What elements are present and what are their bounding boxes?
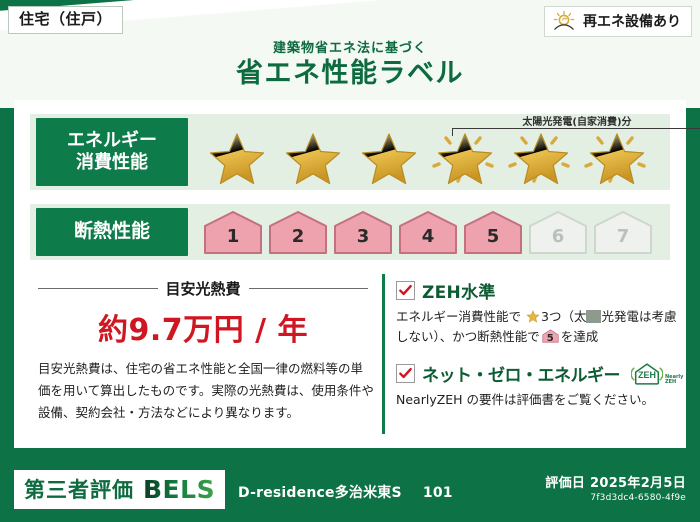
- insulation-level-number: 1: [202, 226, 264, 247]
- utility-cost-caption-text: 目安光熱費: [166, 278, 241, 299]
- star-icon: [580, 126, 654, 186]
- star-icon: [504, 126, 578, 186]
- star-icon: [352, 126, 426, 186]
- evaluation-info: 評価日 2025年2月5日 7f3d3dc4-6580-4f9e: [545, 472, 686, 503]
- utility-cost-block: 目安光熱費 約9.7万円 / 年: [38, 278, 368, 349]
- insulation-level-icon: 5: [542, 329, 559, 343]
- energy-performance-row: エネルギー 消費性能 太陽光発電(自家消費)分: [30, 114, 670, 190]
- panel-divider: [382, 274, 385, 434]
- energy-label-line1: エネルギー: [67, 130, 157, 153]
- building-type-tag: 住宅（住戸）: [8, 6, 123, 34]
- insulation-level-scale: 1234567: [202, 210, 654, 254]
- utility-cost-caption: 目安光熱費: [38, 278, 368, 299]
- renewable-energy-label: 再エネ設備あり: [583, 11, 681, 31]
- insulation-performance-row: 断熱性能 1234567: [30, 204, 670, 260]
- utility-cost-description: 目安光熱費は、住宅の省エネ性能と全国一律の燃料等の単価を用いて算出したものです。…: [38, 358, 374, 424]
- insulation-level-4: 4: [397, 210, 459, 254]
- svg-text:ZEH: ZEH: [638, 370, 656, 380]
- sun-icon: [551, 10, 577, 32]
- zeh-standard-title: ZEH水準: [422, 278, 496, 303]
- net-zero-energy-checkbox[interactable]: [396, 364, 415, 383]
- insulation-level-number: 7: [592, 226, 654, 247]
- utility-cost-amount: 約9.7万円 / 年: [38, 305, 368, 349]
- insulation-performance-label-box: 断熱性能: [36, 208, 188, 256]
- zeh-desc-part2: 3つ（太: [541, 309, 586, 324]
- insulation-level-6: 6: [527, 210, 589, 254]
- energy-performance-label-box: エネルギー 消費性能: [36, 118, 188, 186]
- net-zero-energy-title: ネット・ゼロ・エネルギー: [422, 361, 620, 386]
- star-icon: [200, 126, 274, 186]
- energy-performance-label: 住宅（住戸） 再エネ設備あり 建築物省エネ法に基づく 省エネ性能ラベル: [0, 0, 700, 522]
- insulation-level-number: 4: [397, 226, 459, 247]
- label-footer: 第三者評価 BELS D-residence多治米東S 101 評価日 2025…: [0, 462, 700, 522]
- zeh-desc-part1: エネルギー消費性能で: [396, 309, 521, 324]
- zeh-standard-block: ZEH水準 エネルギー消費性能で 3つ（太光発電は考慮しない）、かつ断熱性能で …: [396, 278, 686, 347]
- headline-title: 省エネ性能ラベル: [0, 60, 700, 87]
- insulation-level-number: 5: [462, 226, 524, 247]
- insulation-level-7: 7: [592, 210, 654, 254]
- insulation-label-text: 断熱性能: [74, 220, 150, 244]
- check-icon: [398, 366, 413, 381]
- insulation-level-number: 2: [267, 226, 329, 247]
- star-icon: [428, 126, 502, 186]
- insulation-levels-area: 1234567: [188, 204, 670, 260]
- insulation-level-3: 3: [332, 210, 394, 254]
- property-name: D-residence多治米東S: [238, 485, 402, 501]
- label-body-card: エネルギー 消費性能 太陽光発電(自家消費)分 断熱性能 1234567: [14, 100, 686, 448]
- headline-subtitle: 建築物省エネ法に基づく: [0, 42, 700, 55]
- zeh-logo: ZEH NearlyZEH: [631, 362, 683, 385]
- zeh-standard-description: エネルギー消費性能で 3つ（太光発電は考慮しない）、かつ断熱性能で 5 を達成: [396, 307, 686, 347]
- zeh-standard-checkbox[interactable]: [396, 281, 415, 300]
- insulation-level-number: 3: [332, 226, 394, 247]
- energy-label-line2: 消費性能: [76, 152, 148, 175]
- zeh-standard-header: ZEH水準: [396, 278, 686, 303]
- star-icon: [526, 309, 540, 322]
- energy-star-rating: [200, 126, 654, 186]
- insulation-level-value: 5: [542, 331, 559, 347]
- zeh-house-icon: ZEH: [631, 362, 663, 385]
- net-zero-energy-header: ネット・ゼロ・エネルギー ZEH NearlyZEH: [396, 361, 686, 386]
- net-zero-energy-description: NearlyZEH の要件は評価書をご覧ください。: [396, 390, 686, 410]
- zeh-desc-part4: を達成: [561, 329, 599, 344]
- net-zero-energy-block: ネット・ゼロ・エネルギー ZEH NearlyZEH: [396, 361, 686, 410]
- property-identification: D-residence多治米東S 101: [238, 482, 453, 502]
- zeh-logo-subtext: NearlyZEH: [665, 375, 683, 386]
- insulation-level-1: 1: [202, 210, 264, 254]
- zeh-panel: ZEH水準 エネルギー消費性能で 3つ（太光発電は考慮しない）、かつ断熱性能で …: [396, 278, 686, 424]
- insulation-level-2: 2: [267, 210, 329, 254]
- insulation-level-number: 6: [527, 226, 589, 247]
- star-icon: [276, 126, 350, 186]
- evaluation-id: 7f3d3dc4-6580-4f9e: [545, 493, 686, 503]
- bels-logo-text: BELS: [143, 475, 215, 504]
- redacted-character: [586, 310, 601, 323]
- third-party-label: 第三者評価: [24, 474, 134, 504]
- renewable-energy-badge: 再エネ設備あり: [544, 6, 692, 37]
- property-number: 101: [423, 485, 453, 501]
- bels-certification-mark: 第三者評価 BELS: [14, 470, 225, 509]
- insulation-level-5: 5: [462, 210, 524, 254]
- energy-stars-area: 太陽光発電(自家消費)分: [188, 114, 670, 190]
- evaluation-date: 評価日 2025年2月5日: [545, 472, 686, 491]
- check-icon: [398, 283, 413, 298]
- label-headline: 建築物省エネ法に基づく 省エネ性能ラベル: [0, 42, 700, 87]
